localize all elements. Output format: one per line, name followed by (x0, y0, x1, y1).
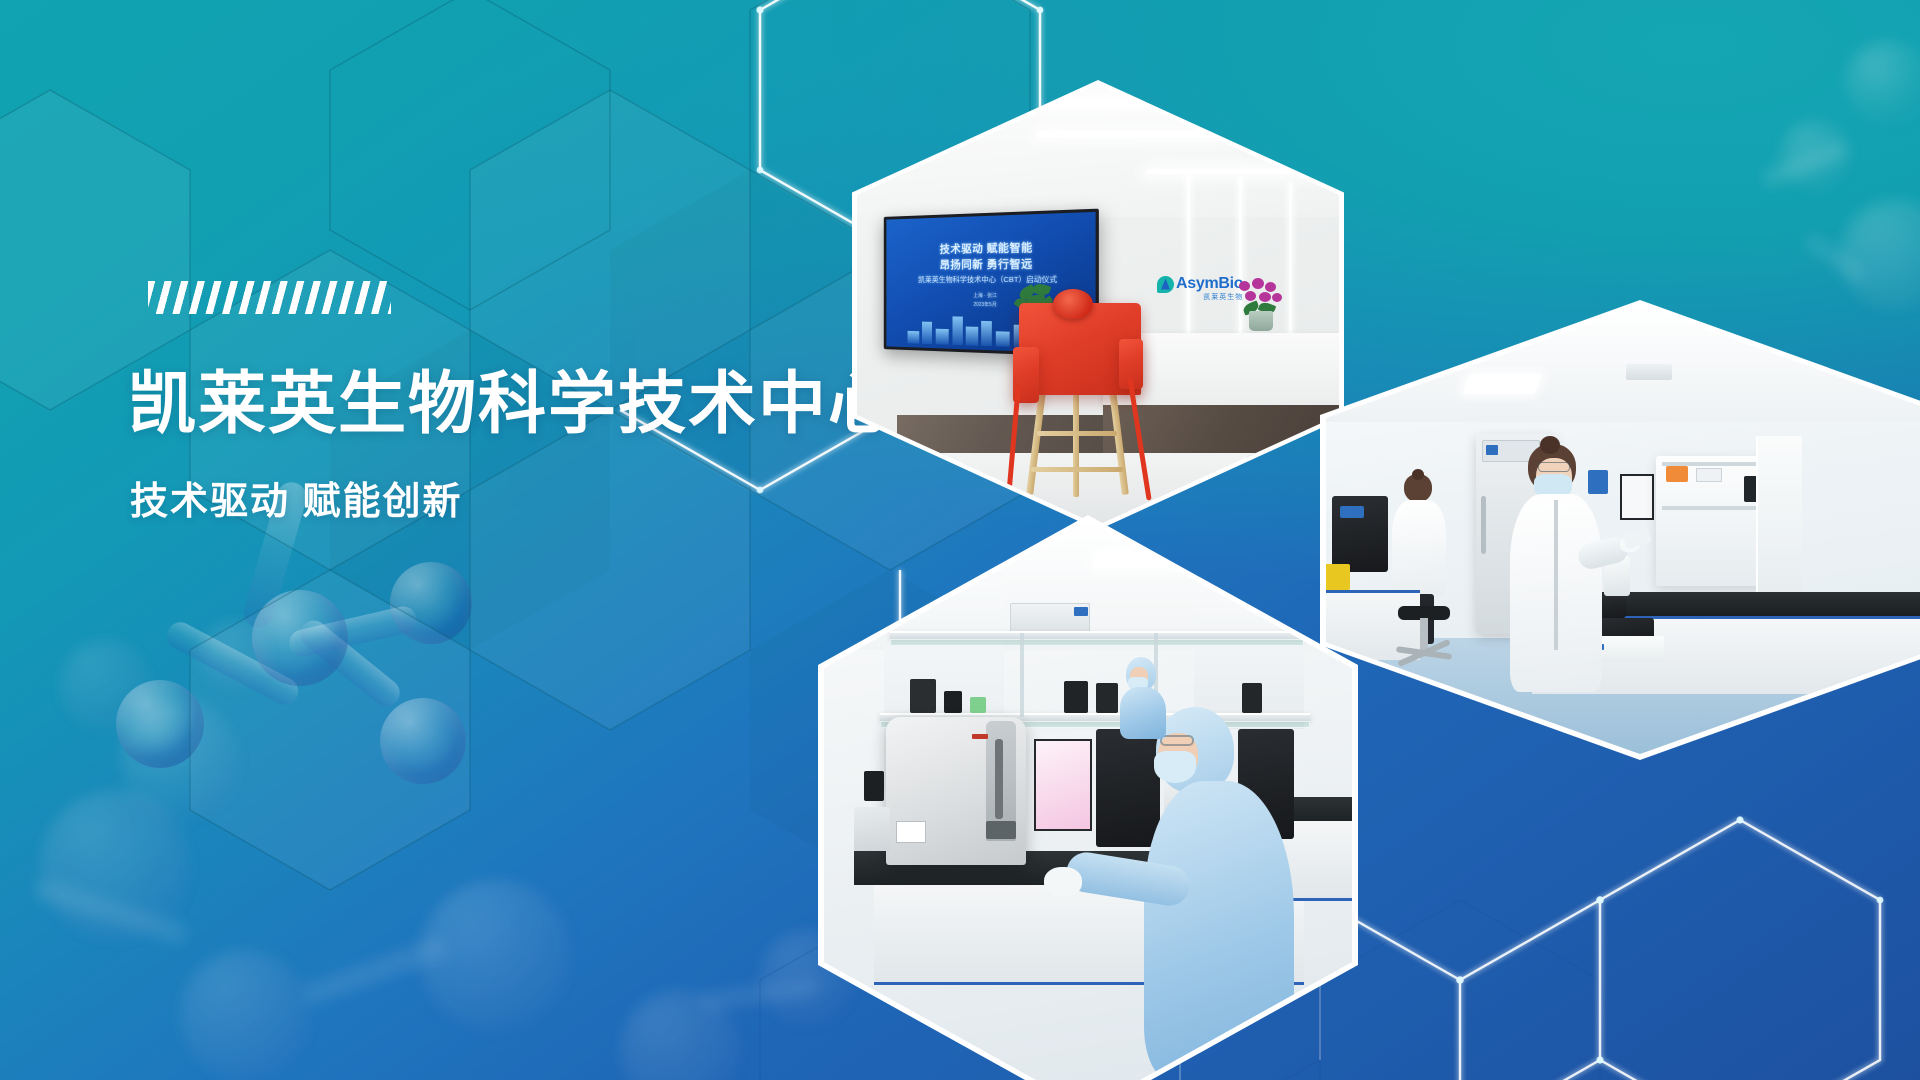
technician-mask (1154, 751, 1196, 783)
wall-logo: AsymBio 凯莱英生物 (1157, 275, 1243, 293)
reagent-box-orange (1666, 466, 1688, 482)
wall-seam-1 (1187, 171, 1190, 341)
coat-placket (1554, 500, 1558, 650)
freezer-handle (1481, 496, 1486, 554)
stool-post (1420, 618, 1428, 652)
ceiling-air-vent (1626, 364, 1672, 380)
wall-monitor (1620, 474, 1654, 520)
technician-goggles (1160, 735, 1194, 746)
researcher-foreground (1502, 444, 1622, 714)
red-ribbon-left (1006, 385, 1021, 497)
ribbon-flower (1053, 289, 1093, 319)
shelf-post-1 (1020, 633, 1024, 717)
shelving-rack (1756, 436, 1802, 606)
bench-box-left (854, 807, 890, 851)
instrument-brand-mark (972, 734, 988, 739)
monitor-magenta (1034, 739, 1092, 831)
instrument-display (1074, 607, 1088, 616)
shelf-item-dark (944, 691, 962, 713)
microscope (910, 679, 936, 713)
background-technician (1120, 657, 1168, 727)
technician-glove (1044, 867, 1082, 897)
researcher-hair-bun (1540, 436, 1560, 454)
page-subtitle: 技术驱动 赋能创新 (130, 470, 463, 525)
instrument-sample-port (986, 821, 1016, 839)
shelf-glass-upper (890, 639, 1304, 646)
red-ribbon-right (1127, 377, 1151, 500)
researcher-glasses (1538, 462, 1570, 472)
bench-device-left (864, 771, 884, 801)
hood-shelf-2 (1662, 506, 1770, 510)
instrument-probe (995, 739, 1003, 819)
shelf-instrument-dark (1064, 681, 1088, 713)
wall-logo-text: AsymBio (1176, 275, 1243, 293)
lab-stool (1392, 606, 1456, 676)
waste-bin-yellow (1326, 564, 1350, 590)
left-instrument-display (1340, 506, 1364, 518)
asymbio-logo-icon (1157, 276, 1174, 293)
screen-line-2: 昂扬同新 勇行智远 (886, 254, 1095, 272)
banner-canvas: 凯莱英生物科学技术中心 技术驱动 赋能创新 技术驱动 赋能智能 昂扬同新 勇行智… (0, 0, 1920, 1080)
background-hair-bun (1412, 469, 1424, 480)
instrument-label (896, 821, 926, 843)
ceiling-light-panel (1462, 374, 1542, 394)
decorative-stripes (148, 281, 391, 314)
unveiling-easel (1007, 281, 1157, 501)
reagent-bottle-green (970, 697, 986, 713)
freezer-display (1486, 445, 1498, 455)
orchid-plant (1235, 281, 1291, 337)
page-title: 凯莱英生物科学技术中心 (128, 368, 898, 440)
hood-item-white (1696, 468, 1722, 482)
